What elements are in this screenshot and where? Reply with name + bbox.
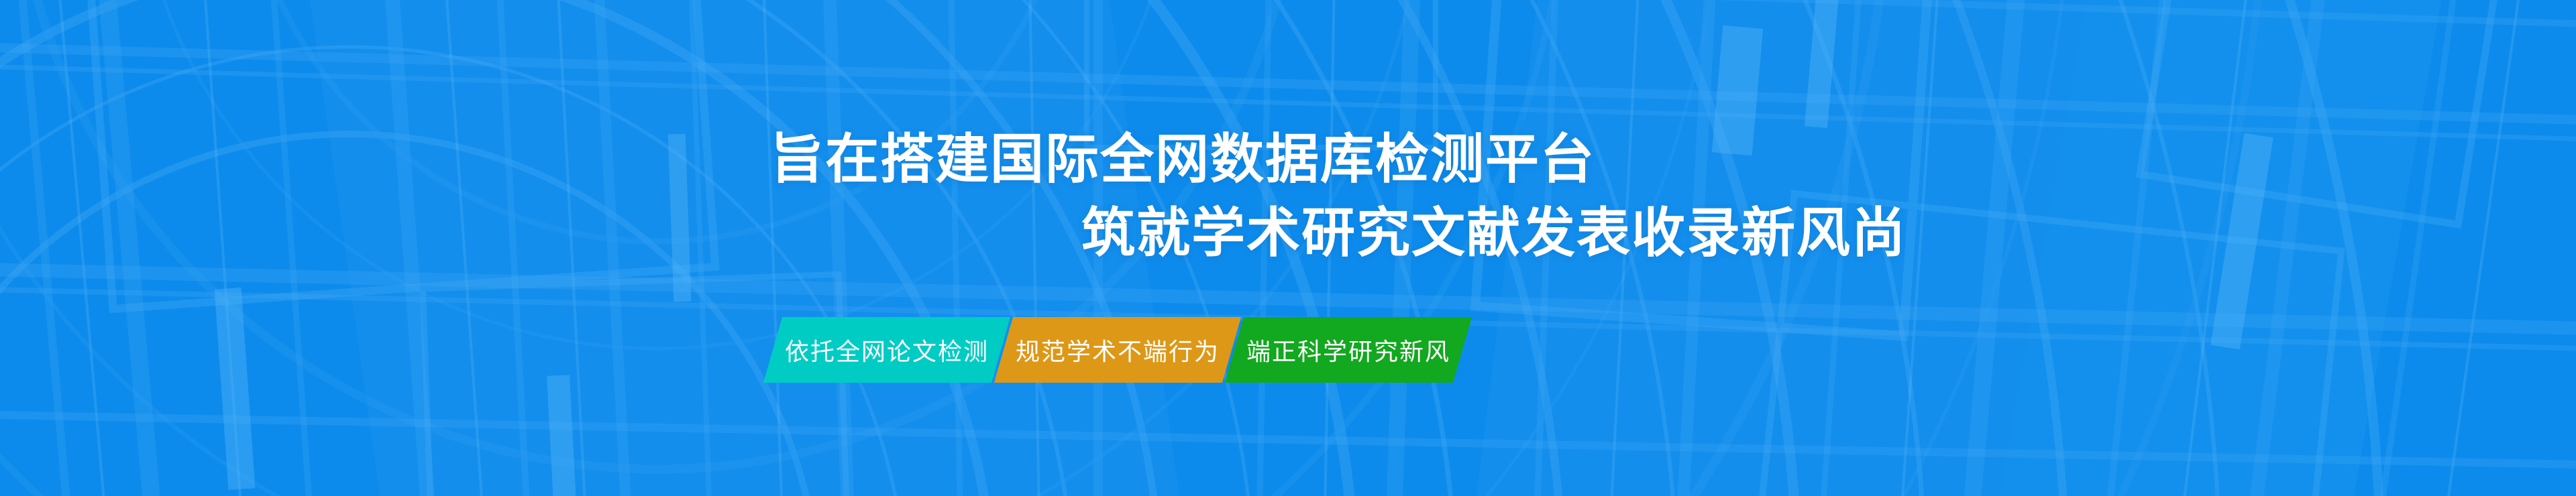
feature-tag-1-label: 规范学术不端行为 [1016,332,1220,367]
feature-tag-0[interactable]: 依托全网论文检测 [763,317,1010,383]
headline-line-1: 旨在搭建国际全网数据库检测平台 [770,133,1595,186]
feature-tag-0-label: 依托全网论文检测 [785,332,989,367]
feature-tag-2[interactable]: 端正科学研究新风 [1225,317,1472,383]
headline-line-2: 筑就学术研究文献发表收录新风尚 [1081,206,1907,260]
hero-banner: 旨在搭建国际全网数据库检测平台 筑就学术研究文献发表收录新风尚 依托全网论文检测… [0,0,2576,496]
headline-block: 旨在搭建国际全网数据库检测平台 筑就学术研究文献发表收录新风尚 [0,0,2576,496]
feature-tag-2-label: 端正科学研究新风 [1246,332,1450,367]
feature-tag-strip: 依托全网论文检测 规范学术不端行为 端正科学研究新风 [773,317,1462,383]
feature-tag-1[interactable]: 规范学术不端行为 [994,317,1241,383]
